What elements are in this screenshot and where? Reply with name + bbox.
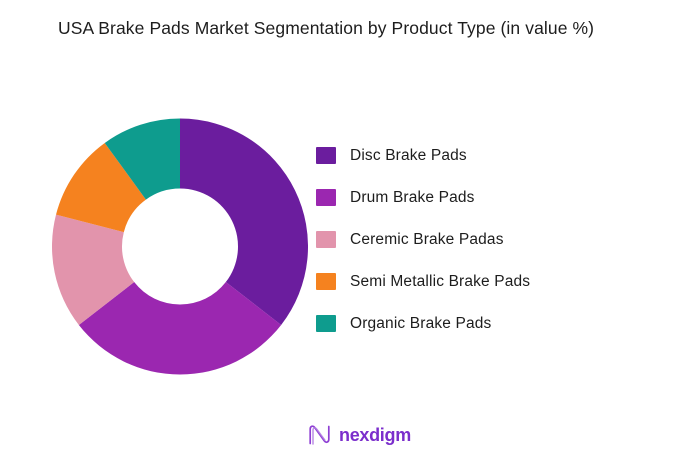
legend-item-label: Ceremic Brake Padas bbox=[350, 232, 504, 248]
legend-color-swatch bbox=[316, 231, 336, 248]
legend-item-label: Drum Brake Pads bbox=[350, 190, 475, 206]
donut-chart-svg bbox=[52, 118, 308, 375]
brand-name: nexdigm bbox=[339, 426, 411, 444]
legend-item[interactable]: Ceremic Brake Padas bbox=[316, 229, 656, 250]
donut-slice[interactable] bbox=[180, 119, 308, 325]
legend-item[interactable]: Organic Brake Pads bbox=[316, 313, 656, 334]
legend-color-swatch bbox=[316, 273, 336, 290]
legend-item[interactable]: Disc Brake Pads bbox=[316, 145, 656, 166]
legend-item[interactable]: Drum Brake Pads bbox=[316, 187, 656, 208]
legend-item-label: Semi Metallic Brake Pads bbox=[350, 274, 530, 290]
legend-color-swatch bbox=[316, 315, 336, 332]
legend-color-swatch bbox=[316, 147, 336, 164]
legend-item-label: Organic Brake Pads bbox=[350, 316, 491, 332]
donut-chart bbox=[52, 118, 308, 375]
brand-logo: nexdigm bbox=[307, 422, 411, 448]
nexdigm-n-logo-icon bbox=[307, 423, 332, 447]
chart-legend: Disc Brake PadsDrum Brake PadsCeremic Br… bbox=[316, 145, 656, 334]
legend-color-swatch bbox=[316, 189, 336, 206]
chart-title: USA Brake Pads Market Segmentation by Pr… bbox=[58, 16, 618, 41]
legend-item-label: Disc Brake Pads bbox=[350, 148, 467, 164]
legend-item[interactable]: Semi Metallic Brake Pads bbox=[316, 271, 656, 292]
